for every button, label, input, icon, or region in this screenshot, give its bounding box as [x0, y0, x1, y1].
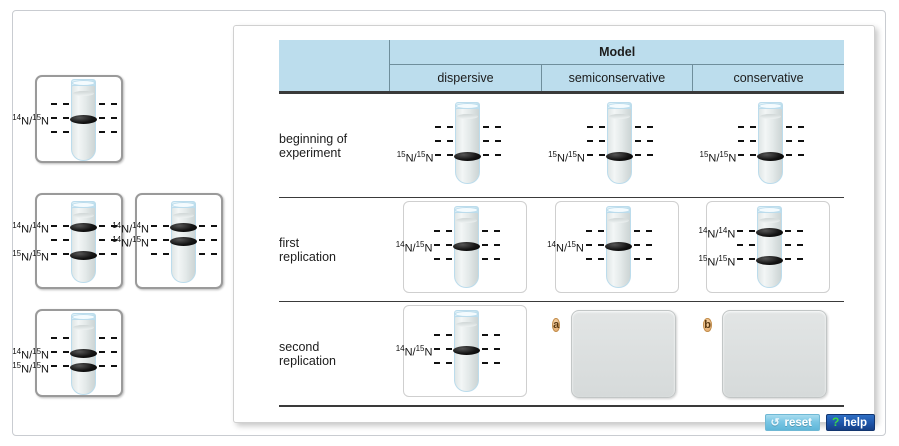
- row-label-first: first replication: [279, 198, 390, 301]
- cell-second-dispersive[interactable]: 14N/15N: [390, 302, 541, 405]
- dna-band: [170, 237, 197, 246]
- refresh-icon: ↺: [771, 418, 781, 428]
- test-tube-graphic: [71, 201, 96, 283]
- dna-band: [605, 242, 632, 251]
- band-label: 14N/14N: [699, 225, 736, 241]
- cell-beginning-conservative: 15N/15N: [693, 94, 844, 197]
- table-row-beginning: beginning of experiment 15N/15N: [279, 94, 844, 197]
- slot-marker-a: a: [552, 318, 560, 332]
- band-label: 15N/15N: [699, 253, 736, 269]
- band-label: 15N/15N: [12, 360, 49, 376]
- band-label: 14N/15N: [396, 239, 433, 255]
- cell-beginning-semiconservative: 15N/15N: [541, 94, 692, 197]
- drop-slot-filled[interactable]: 14N/14N 15N/15N: [706, 201, 830, 293]
- question-icon: ?: [832, 417, 839, 428]
- cell-first-dispersive[interactable]: 14N/15N: [390, 198, 541, 301]
- slot-marker-b: b: [703, 318, 712, 332]
- model-table: Model dispersive semiconservative conser…: [279, 40, 844, 407]
- tube-tray: 14N/15N 14N/14N 15N/15N: [13, 11, 233, 437]
- dna-band: [606, 152, 633, 161]
- cell-first-conservative[interactable]: 14N/14N 15N/15N: [693, 198, 844, 301]
- band-label: 14N/14N: [12, 220, 49, 236]
- column-header-dispersive: dispersive: [390, 65, 541, 92]
- dna-band: [70, 251, 97, 260]
- dna-band: [70, 223, 97, 232]
- draggable-tube-card-2[interactable]: 14N/14N 15N/15N: [35, 193, 123, 289]
- row-label-second: second replication: [279, 302, 390, 405]
- test-tube-graphic: [171, 201, 196, 283]
- drop-slot-filled[interactable]: 14N/15N: [403, 305, 527, 397]
- table-corner-cell: [279, 40, 390, 65]
- cell-second-semiconservative[interactable]: a: [541, 302, 692, 405]
- band-label: 15N/15N: [12, 248, 49, 264]
- table-corner-cell-2: [279, 65, 390, 92]
- table-group-header: Model: [390, 40, 844, 65]
- row-label-beginning: beginning of experiment: [279, 94, 390, 197]
- column-header-conservative: conservative: [693, 65, 844, 92]
- dna-band: [70, 363, 97, 372]
- row-label-line1: beginning of: [279, 132, 390, 146]
- band-label: 15N/15N: [397, 149, 434, 165]
- table-row-first: first replication 14N/15: [279, 198, 844, 301]
- dna-band: [70, 115, 97, 124]
- drop-slot-empty-b[interactable]: [722, 310, 827, 398]
- drop-slot-filled[interactable]: 14N/15N: [403, 201, 527, 293]
- activity-panel: 14N/15N 14N/14N 15N/15N: [12, 10, 886, 436]
- band-label: 14N/15N: [547, 239, 584, 255]
- reset-button[interactable]: ↺ reset: [765, 414, 821, 431]
- table-row-second: second replication 14N/1: [279, 302, 844, 405]
- cell-beginning-dispersive: 15N/15N: [390, 94, 541, 197]
- help-button-label: help: [843, 417, 867, 429]
- draggable-tube-card-3[interactable]: 14N/14N 14N/15N: [135, 193, 223, 289]
- draggable-tube-card-4[interactable]: 14N/15N 15N/15N: [35, 309, 123, 397]
- dna-band: [170, 223, 197, 232]
- test-tube-graphic: [71, 79, 96, 161]
- dna-band: [70, 349, 97, 358]
- band-label: 14N/15N: [396, 343, 433, 359]
- band-label: 15N/15N: [548, 149, 585, 165]
- band-label: 14N/15N: [112, 234, 149, 250]
- band-label: 15N/15N: [700, 149, 737, 165]
- row-label-line2: replication: [279, 354, 390, 368]
- model-work-panel: Model dispersive semiconservative conser…: [233, 25, 875, 423]
- draggable-tube-card-1[interactable]: 14N/15N: [35, 75, 123, 163]
- cell-first-semiconservative[interactable]: 14N/15N: [541, 198, 692, 301]
- column-header-semiconservative: semiconservative: [541, 65, 692, 92]
- drop-slot-empty-a[interactable]: [571, 310, 676, 398]
- cell-second-conservative[interactable]: b: [693, 302, 844, 405]
- band-label: 14N/15N: [12, 112, 49, 128]
- row-label-line1: first: [279, 236, 390, 250]
- reset-button-label: reset: [785, 417, 813, 429]
- help-button[interactable]: ? help: [826, 414, 875, 431]
- table-rule: [279, 405, 844, 407]
- test-tube-graphic: [71, 313, 96, 395]
- footer-button-group: ↺ reset ? help: [765, 414, 875, 431]
- row-label-line2: experiment: [279, 146, 390, 160]
- row-label-line1: second: [279, 340, 390, 354]
- row-label-line2: replication: [279, 250, 390, 264]
- drop-slot-filled[interactable]: 14N/15N: [555, 201, 679, 293]
